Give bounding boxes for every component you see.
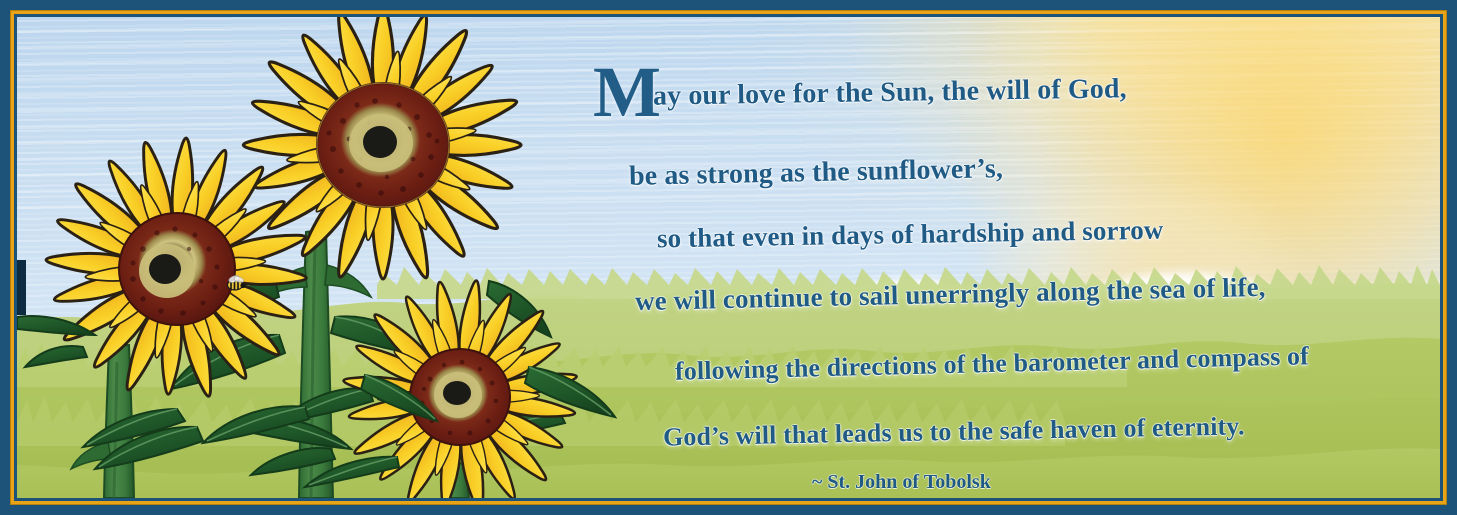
left-edge-notch (17, 260, 26, 315)
quote-line-2: be as strong as the sunflower’s, (629, 153, 1004, 193)
quote-line-1: ay our love for the Sun, the will of God… (653, 73, 1127, 112)
quote-line-5: following the directions of the baromete… (675, 341, 1309, 386)
artwork-scene: M ay our love for the Sun, the will of G… (17, 17, 1440, 498)
quote-attribution: ~ St. John of Tobolsk (812, 471, 991, 494)
sunflower-quote-banner: M ay our love for the Sun, the will of G… (0, 0, 1457, 515)
quote-line-3: so that even in days of hardship and sor… (657, 215, 1164, 255)
quote-line-4: we will continue to sail unerringly alon… (635, 272, 1266, 317)
quote-block: M ay our love for the Sun, the will of G… (557, 39, 1440, 498)
quote-dropcap: M (593, 61, 661, 123)
quote-line-6: God’s will that leads us to the safe hav… (663, 411, 1245, 452)
